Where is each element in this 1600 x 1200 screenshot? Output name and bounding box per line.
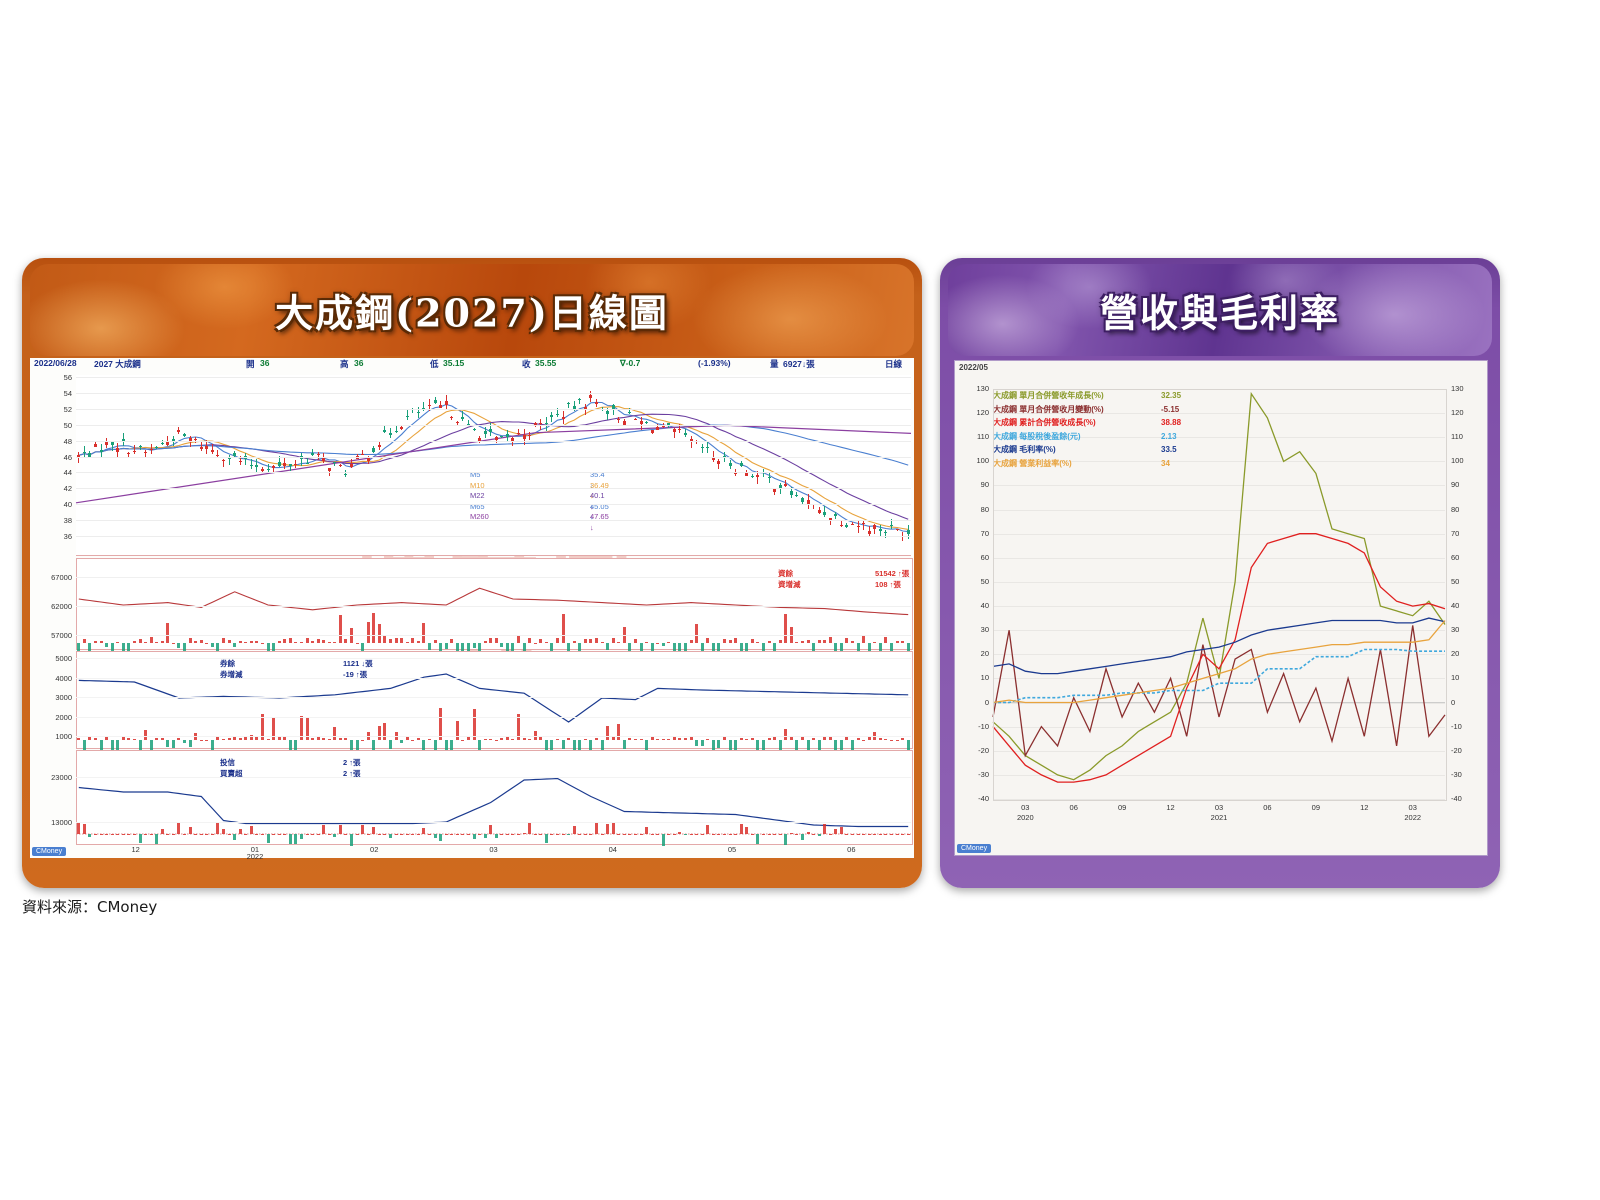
left-chart-panel: 大成鋼(2027)日線圖 2022/06/28 2027 大成鋼 開 36 高 …: [22, 258, 922, 888]
institutional-line: [30, 358, 914, 858]
revenue-gross-margin-chart: 2022/05 1301201101009080706050403020100-…: [954, 360, 1488, 856]
trust-label: 投信: [220, 757, 235, 768]
left-chart-title: 大成鋼(2027)日線圖: [30, 283, 914, 338]
cmoney-brand-badge-right: CMoney: [957, 844, 991, 853]
daily-candlestick-chart: 2022/06/28 2027 大成鋼 開 36 高 36 低 35.15 收 …: [30, 358, 914, 858]
left-banner: 大成鋼(2027)日線圖: [30, 264, 914, 356]
right-chart-panel: 營收與毛利率 2022/05 1301201101009080706050403…: [940, 258, 1500, 888]
right-chart-title: 營收與毛利率: [948, 283, 1492, 338]
cmoney-brand-badge: CMoney: [32, 847, 66, 856]
right-banner: 營收與毛利率: [948, 264, 1492, 356]
trust-value: 2 ↑張: [343, 757, 361, 768]
source-note: 資料來源：CMoney: [22, 896, 157, 917]
